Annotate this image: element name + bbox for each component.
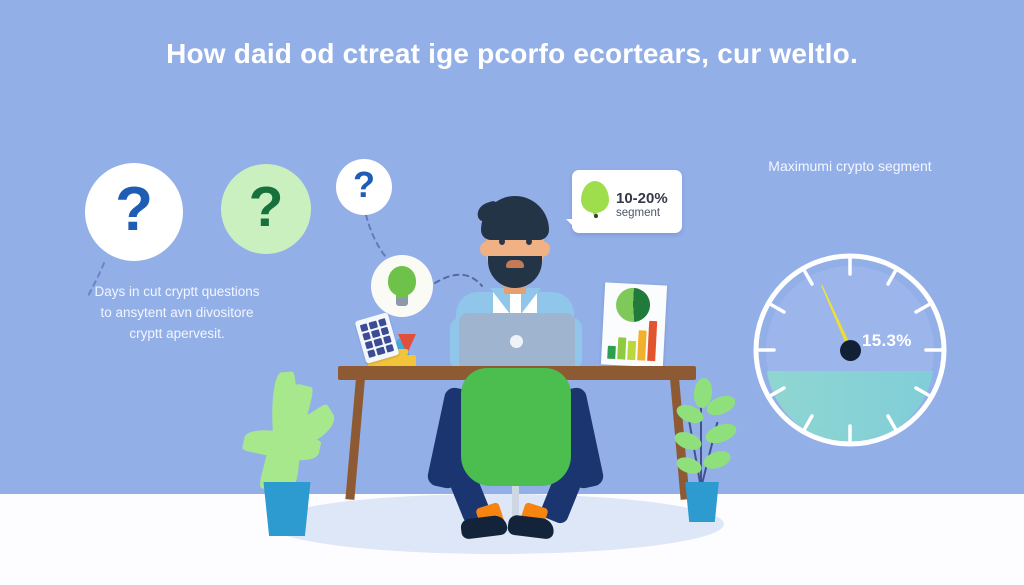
question-mark-glyph: ? [115,179,153,241]
gauge-value: 15.3% [862,331,912,351]
question-mark-glyph: ? [249,179,284,236]
mouth [506,260,524,268]
question-bubble-large[interactable]: ? [85,163,183,261]
tooltip-label: segment [616,207,660,219]
laptop-logo [510,335,523,348]
laptop [459,313,575,369]
bar [627,341,635,360]
tooltip-percent: 10-20% [616,190,668,207]
lightbulb-glass [388,266,416,296]
question-mark-glyph: ? [353,167,375,203]
illustration-scene: How daid od ctreat ige pcorfo ecortears,… [0,0,1024,585]
bar-chart-graphic [607,317,659,362]
chair-back [461,368,571,486]
calculator-keys [360,318,394,358]
lightbulb-base [396,298,408,306]
bar [647,321,657,361]
chart-poster [601,282,667,367]
question-bubble-green[interactable]: ? [221,164,311,254]
gauge-title: Maximumi crypto segment [720,158,980,174]
gauge-hub [840,340,861,361]
gauge-widget[interactable]: 15.3% [744,244,956,456]
bar [617,337,626,359]
question-bubble-small[interactable]: ? [336,159,392,215]
bar [637,330,646,361]
